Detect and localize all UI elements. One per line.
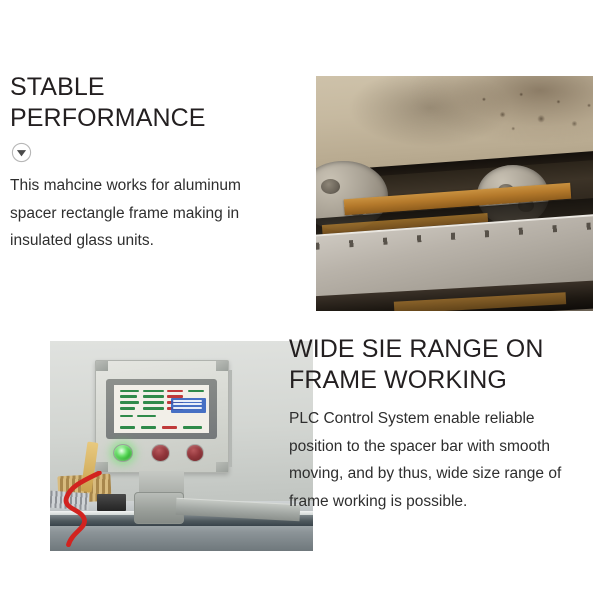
feature-section-stable-performance: STABLE PERFORMANCE This mahcine works fo… xyxy=(0,0,600,310)
control-panel-photo xyxy=(50,341,313,551)
feature-text-column: WIDE SIE RANGE ON FRAME WORKING PLC Cont… xyxy=(289,334,589,515)
photo-screen-row xyxy=(120,407,135,410)
feature-title-wide-size-range: WIDE SIE RANGE ON FRAME WORKING xyxy=(289,334,589,396)
photo-enclosure-corner xyxy=(216,361,228,371)
photo-screen-row xyxy=(143,407,164,410)
photo-enclosure-corner xyxy=(216,462,228,472)
photo-screen-row xyxy=(120,390,139,393)
feature-body-wide-size-range: PLC Control System enable reliable posit… xyxy=(289,405,589,515)
photo-wall-speckle xyxy=(468,81,593,142)
photo-screen-row xyxy=(120,426,135,429)
feature-body-stable-performance: This mahcine works for aluminum spacer r… xyxy=(10,172,264,255)
machine-rail-photo xyxy=(316,76,593,311)
photo-screen-row xyxy=(183,426,202,429)
photo-screen-row xyxy=(143,395,164,398)
feature-text-column: STABLE PERFORMANCE This mahcine works fo… xyxy=(10,72,268,255)
photo-red-button-1 xyxy=(151,444,169,462)
photo-screen-bezel xyxy=(106,379,217,439)
photo-screen-row xyxy=(162,426,177,429)
photo-screen-row xyxy=(137,415,156,418)
chevron-down-circle-icon[interactable] xyxy=(11,142,32,163)
photo-screen-row xyxy=(188,390,203,393)
photo-screen-row xyxy=(120,395,137,398)
photo-red-button-2 xyxy=(186,444,204,462)
photo-red-wire xyxy=(55,471,113,547)
feature-section-wide-size-range: WIDE SIE RANGE ON FRAME WORKING PLC Cont… xyxy=(0,312,600,600)
photo-screen-row xyxy=(167,390,182,393)
photo-screen-row xyxy=(143,401,164,404)
feature-title-stable-performance: STABLE PERFORMANCE xyxy=(10,72,268,134)
photo-screen-row xyxy=(173,407,202,409)
photo-green-indicator-lamp xyxy=(113,444,133,462)
photo-disc-bolt xyxy=(321,179,340,195)
photo-screen-row xyxy=(173,400,202,402)
photo-screen-row xyxy=(120,401,139,404)
photo-enclosure-corner xyxy=(96,361,108,371)
photo-screen-row xyxy=(120,415,133,418)
photo-hmi-enclosure xyxy=(95,360,229,473)
photo-screen-row xyxy=(141,426,156,429)
photo-hmi-screen xyxy=(114,385,209,433)
photo-screen-row xyxy=(143,390,164,393)
